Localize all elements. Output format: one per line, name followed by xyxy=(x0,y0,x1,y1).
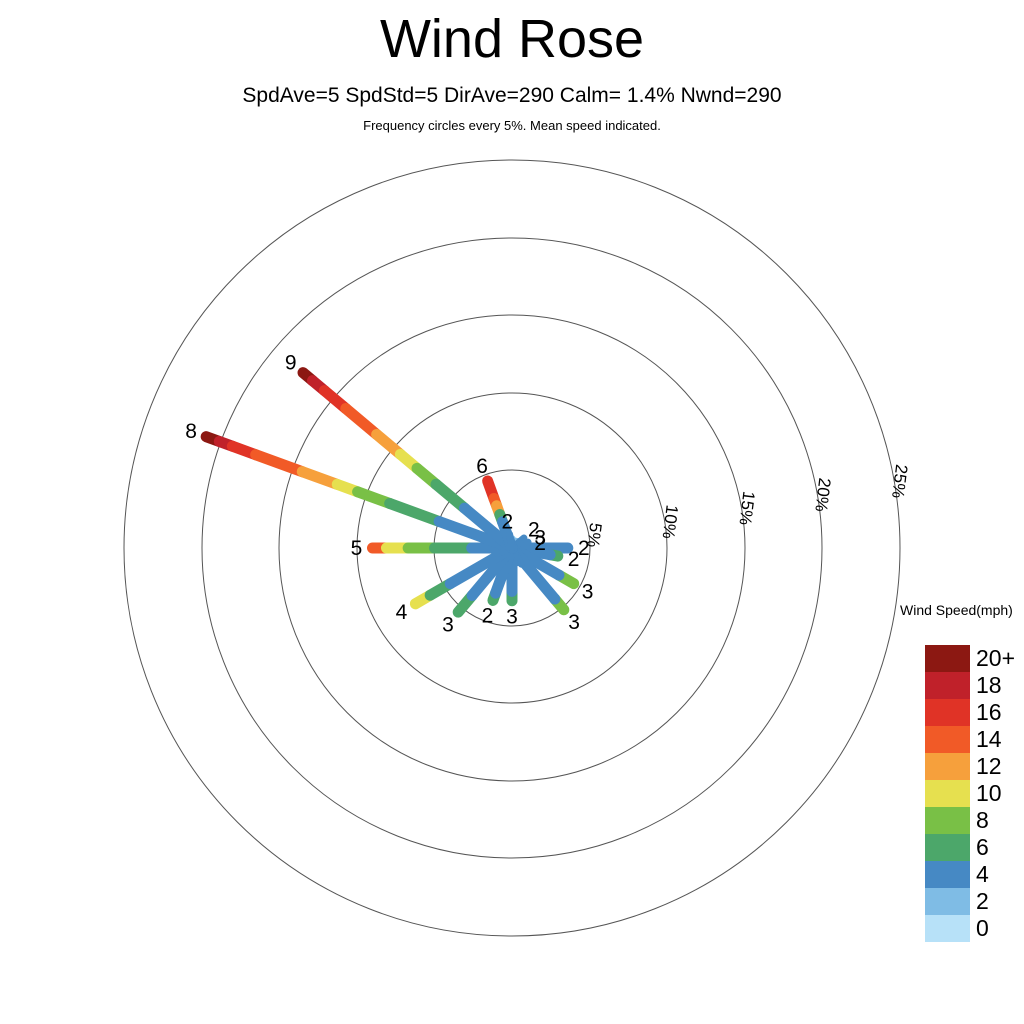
legend-row[interactable]: 20+ xyxy=(925,645,985,672)
legend-row[interactable]: 12 xyxy=(925,753,985,780)
legend-row[interactable]: 2 xyxy=(925,888,985,915)
legend-row[interactable]: 6 xyxy=(925,834,985,861)
mean-speed-label: 2 xyxy=(534,532,546,555)
legend-row[interactable]: 0 xyxy=(925,915,985,942)
mean-speed-label: 3 xyxy=(506,606,518,629)
legend-row[interactable]: 18 xyxy=(925,672,985,699)
legend-label: 0 xyxy=(976,915,989,942)
mean-speed-label: 3 xyxy=(568,611,580,634)
legend-swatch xyxy=(925,726,970,753)
legend-swatch xyxy=(925,672,970,699)
ring-labels: 5%10%15%20%25% xyxy=(583,463,911,548)
mean-speed-label: 2 xyxy=(501,510,513,533)
legend-swatch xyxy=(925,780,970,807)
petal-segment xyxy=(302,472,337,485)
legend-label: 10 xyxy=(976,780,1002,807)
legend-swatch xyxy=(925,645,970,672)
legend-label: 14 xyxy=(976,726,1002,753)
legend-swatch xyxy=(925,861,970,888)
legend-title: Wind Speed(mph) xyxy=(900,602,1013,618)
legend-label: 6 xyxy=(976,834,989,861)
legend-label: 4 xyxy=(976,861,989,888)
wind-rose-plot: 5%10%15%20%25% 2322233323458962 xyxy=(0,0,1024,1024)
legend-label: 12 xyxy=(976,753,1002,780)
mean-speed-label: 5 xyxy=(351,537,363,560)
legend-label: 16 xyxy=(976,699,1002,726)
mean-speed-label: 3 xyxy=(442,613,454,636)
legend-row[interactable]: 10 xyxy=(925,780,985,807)
mean-speed-label: 4 xyxy=(396,601,408,624)
petal-segment xyxy=(436,484,464,508)
mean-speed-label: 6 xyxy=(476,455,488,478)
legend-label: 8 xyxy=(976,807,989,834)
wind-rose-page: Wind Rose SpdAve=5 SpdStd=5 DirAve=290 C… xyxy=(0,0,1024,1024)
wind-petals xyxy=(206,373,574,612)
mean-speed-label: 2 xyxy=(568,548,580,571)
mean-speed-label: 2 xyxy=(482,604,494,627)
wind-speed-legend: 20+181614121086420 xyxy=(925,645,985,942)
petal-segment xyxy=(346,409,377,435)
legend-row[interactable]: 16 xyxy=(925,699,985,726)
legend-swatch xyxy=(925,888,970,915)
mean-speed-label: 2 xyxy=(578,537,590,560)
legend-row[interactable]: 8 xyxy=(925,807,985,834)
petal-segment xyxy=(390,503,440,521)
mean-speed-label: 9 xyxy=(285,351,297,374)
legend-swatch xyxy=(925,915,970,942)
mean-speed-label: 3 xyxy=(582,581,594,604)
legend-row[interactable]: 4 xyxy=(925,861,985,888)
legend-swatch xyxy=(925,834,970,861)
legend-swatch xyxy=(925,699,970,726)
legend-row[interactable]: 14 xyxy=(925,726,985,753)
mean-speed-label: 8 xyxy=(185,420,197,443)
petal-segment xyxy=(510,534,512,548)
legend-swatch xyxy=(925,807,970,834)
legend-label: 2 xyxy=(976,888,989,915)
legend-label: 18 xyxy=(976,672,1002,699)
legend-swatch xyxy=(925,753,970,780)
legend-label: 20+ xyxy=(976,645,1015,672)
